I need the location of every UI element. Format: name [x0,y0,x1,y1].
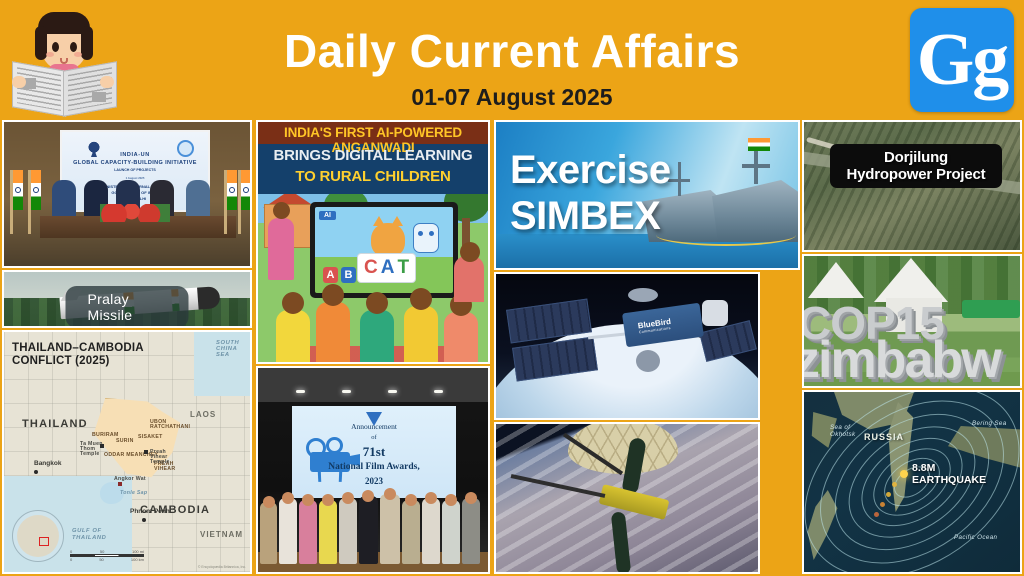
screen-line-announcement: Announcement [292,422,456,431]
indian-flag-icon [238,170,251,234]
magnitude-value: 8.8M [912,462,986,474]
tile-bluebird-satellite[interactable]: BlueBird Communications [494,272,760,420]
propulsion-module [702,300,728,326]
tile-india-un[interactable]: INDIA-UN GLOBAL CAPACITY-BUILDING INITIA… [2,120,252,268]
attendee [260,502,277,564]
simbex-title-line-2: SIMBEX [510,194,660,239]
cop15-letters-line-2: zimbabw [802,330,1000,388]
map-label-surin: SURIN [116,438,134,444]
board-screen: AI A B CAT [315,207,453,293]
attendee-head [282,492,294,504]
tile-satellite-over-earth[interactable] [494,422,760,574]
map-label-tonle-sap: Tonle Sap [120,490,147,496]
letter-tile-b: B [341,267,356,283]
aftershock-marker [886,492,891,497]
ship-radar [742,164,770,168]
scale-label-50-km: 50 [99,557,103,562]
map-title: THAILAND–CAMBODIA CONFLICT (2025) [12,342,144,368]
attendee-head [445,494,457,506]
pralay-missile-caption: Pralay Missile [66,286,189,328]
child-head [366,292,388,314]
simbex-title-line-1: Exercise [510,148,671,193]
mooring-rope [656,224,796,246]
map-label-pacific-ocean: Pacific Ocean [954,534,997,541]
cop15-3d-letters: COP15 zimbabw [804,296,1020,386]
tile-dorjilung-hydropower[interactable]: Dorjilung Hydropower Project [802,120,1022,252]
image-collage: INDIA-UN GLOBAL CAPACITY-BUILDING INITIA… [0,118,1024,576]
indian-flag-icon [28,170,41,234]
anganwadi-headline-3: TO RURAL CHILDREN [258,168,488,185]
attendee [442,500,460,564]
child-head [460,242,480,262]
child-head [322,284,344,306]
attendee [299,500,317,564]
screen-line-awards: National Film Awards, [292,462,456,472]
date-range: 01-07 August 2025 [0,84,1024,111]
cat-illustration [371,223,405,257]
child-figure [360,310,394,362]
ceiling-light [434,390,443,393]
attendee [462,498,480,564]
map-label-ubon-ratchathani: UBON RATCHATHANI [150,420,180,430]
page-root: Daily Current Affairs 01-07 August 2025 … [0,0,1024,576]
attendee-head [405,494,417,506]
map-label-buriram: BURIRAM [92,432,119,438]
magnitude-word: EARTHQUAKE [912,474,986,486]
anganwadi-headline-2: BRINGS DIGITAL LEARNING [258,147,488,164]
teacher-figure [268,218,294,280]
teacher-head [273,202,290,219]
attendee [339,498,357,564]
map-label-russia: RUSSIA [864,432,904,442]
logo-text: Gg [917,23,1008,97]
map-label-bangkok: Bangkok [34,460,61,467]
aftershock-marker [874,512,879,517]
attendee [380,494,400,564]
screen-line-of: of [292,434,456,441]
map-scale-bar: 0 50 100 mi 0 50 100 km [70,549,144,562]
attendee [422,498,440,564]
ship-radar [668,179,690,182]
screen-line-2: GLOBAL CAPACITY-BUILDING INITIATIVE [62,160,208,166]
indian-flag-icon [748,138,770,151]
announcement-screen: Announcement of 71st National Film Award… [292,406,456,498]
screen-line-3: LAUNCH OF PROJECTS [62,168,208,172]
page-title: Daily Current Affairs [0,24,1024,78]
epicenter-marker [900,470,908,478]
scale-label-50: 50 [100,549,104,554]
globe-inset [12,510,64,562]
tile-pralay-missile[interactable]: Pralay Missile [2,270,252,328]
ai-badge: AI [319,211,336,220]
letter-tile-a: A [323,267,338,283]
scale-label-0: 0 [70,549,72,554]
map-label-sea-of-okhotsk: Sea of Okhotsk [830,424,860,438]
attendee [359,496,378,564]
tile-cop15-zimbabwe[interactable]: COP15 zimbabw [802,254,1022,388]
attendee-head [302,494,314,506]
bluebird-brand-label: BlueBird Communications [637,317,672,335]
screen-line-71st: 71st [292,444,456,460]
tile-exercise-simbex[interactable]: Exercise SIMBEX [494,120,800,270]
child-figure [454,256,484,302]
panelist [186,180,210,220]
tile-ai-anganwadi[interactable]: AI A B CAT [256,120,490,364]
child-head [410,288,432,310]
attendee [402,500,420,564]
ceiling [258,368,488,402]
attendee-head [322,494,334,506]
map-label-thailand: THAILAND [22,418,88,430]
indian-flag-icon [224,170,237,234]
aftershock-marker [880,502,885,507]
map-label-gulf-of-thailand: GULF OF THAILAND [72,528,114,542]
dish-antenna [628,288,658,302]
robot-icon [413,223,439,253]
child-head [282,292,304,314]
tile-national-film-awards[interactable]: Announcement of 71st National Film Award… [256,366,490,574]
scale-label-0-km: 0 [70,557,72,562]
map-title-line-2: CONFLICT (2025) [12,355,144,368]
site-marker [118,482,122,486]
attendee [279,498,297,564]
site-marker [100,444,104,448]
header-banner: Daily Current Affairs 01-07 August 2025 … [0,0,1024,120]
attendee-head [384,488,396,500]
attendee-head [263,496,275,508]
gg-logo[interactable]: Gg [910,8,1014,112]
map-label-sisaket: SISAKET [138,434,163,440]
panelist [52,180,76,220]
child-figure [316,302,350,362]
attendee-head [425,492,437,504]
screen-line-1: INDIA-UN [62,152,208,158]
ceiling-light [388,390,397,393]
dorjilung-label-line-2: Hydropower Project [836,166,996,183]
ceiling-light [296,390,305,393]
map-label-vietnam: VIETNAM [200,530,243,539]
map-label-preah-vihear-temple: Preah Vihear Temple [150,450,176,465]
attendee-head [342,492,354,504]
indian-flag-icon [10,170,23,234]
scale-label-100mi: 100 mi [132,549,144,554]
map-label-laos: LAOS [190,410,216,419]
child-figure [444,312,478,362]
flower-arrangement [100,204,170,222]
screen-line-4: 1 August 2025 [62,176,208,180]
attendee [319,500,337,564]
city-marker [34,470,38,474]
map-label-phnom-penh: Phnom Penh [130,508,170,515]
map-label-south-china-sea: SOUTH CHINA SEA [216,340,250,358]
map-label-bering-sea: Bering Sea [972,420,1007,427]
dorjilung-label-line-1: Dorjilung [836,149,996,166]
attendee-head [465,492,477,504]
screen-line-year: 2023 [292,476,456,486]
site-marker [144,450,148,454]
dorjilung-label: Dorjilung Hydropower Project [830,144,1002,188]
aftershock-marker [892,482,897,487]
ceiling-light [342,390,351,393]
dish-antenna [636,350,660,372]
word-card: CAT [357,253,416,283]
map-title-line-1: THAILAND–CAMBODIA [12,342,144,355]
tile-kamchatka-earthquake[interactable]: RUSSIA Sea of Okhotsk Bering Sea Pacific… [802,390,1022,574]
child-figure [404,306,438,362]
tile-thailand-cambodia-map[interactable]: THAILAND–CAMBODIA CONFLICT (2025) THAILA… [2,330,252,574]
earthquake-magnitude-label: 8.8M EARTHQUAKE [912,462,986,486]
child-figure [276,310,310,362]
scale-label-100km: 100 km [131,557,144,562]
map-credit: © Encyclopædia Britannica, Inc. [198,565,246,569]
city-marker [142,518,146,522]
attendee-head [362,490,374,502]
